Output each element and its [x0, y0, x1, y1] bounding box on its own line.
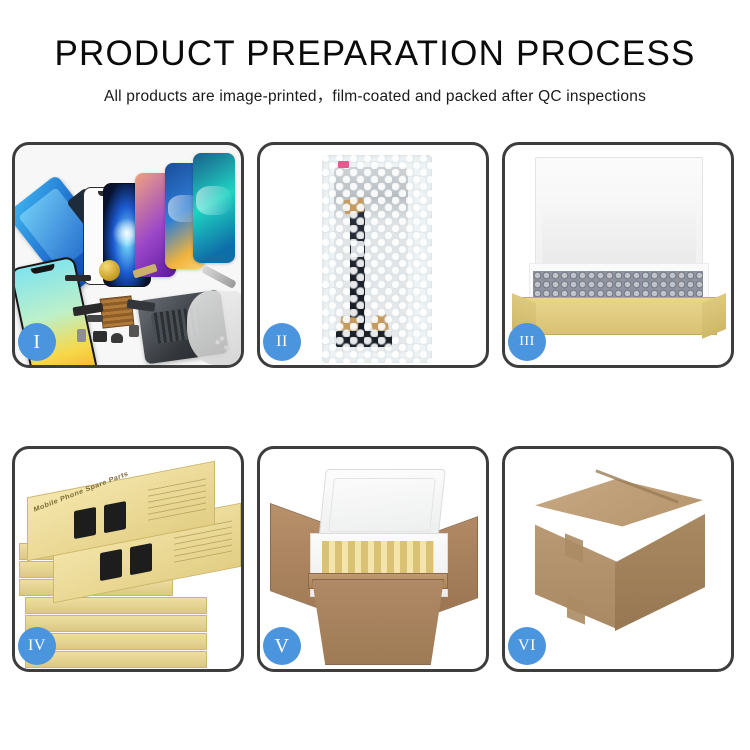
step-badge-2: II — [263, 323, 301, 361]
tweezers-icon — [201, 265, 237, 289]
connector-strip — [336, 331, 392, 347]
header: PRODUCT PREPARATION PROCESS All products… — [0, 0, 750, 106]
pink-sticker-icon — [338, 161, 349, 168]
process-steps-grid: I II — [12, 142, 738, 672]
connector-icon — [343, 198, 365, 215]
product-preparation-page: PRODUCT PREPARATION PROCESS All products… — [0, 0, 750, 750]
small-part-icon — [111, 333, 123, 343]
bubble-wrap-bag — [322, 155, 432, 363]
screen-print-icon — [74, 507, 96, 539]
small-part-icon — [129, 325, 139, 337]
connector-icon — [370, 314, 389, 336]
screen-print-icon — [100, 549, 122, 581]
lcd-panel — [334, 167, 408, 353]
process-step-panel-3: III — [502, 142, 734, 368]
step-badge-1: I — [18, 323, 56, 361]
box-layer — [25, 615, 207, 632]
step-badge-4: IV — [18, 627, 56, 665]
process-step-panel-6: VI — [502, 446, 734, 672]
lcd-flex-cable — [350, 207, 365, 337]
process-step-panel-2: II — [257, 142, 489, 368]
process-step-panel-4: Mobile Phone Spare Parts Mobile Phone Sp… — [12, 446, 244, 672]
step-badge-3: III — [508, 323, 546, 361]
lcd-driver-ic — [351, 241, 364, 257]
box-lid — [535, 157, 703, 277]
speaker-coil-icon — [99, 260, 120, 281]
teal-phone-icon — [193, 153, 235, 263]
process-step-panel-1: I — [12, 142, 244, 368]
step-badge-6: VI — [508, 627, 546, 665]
screen-print-icon — [130, 543, 152, 575]
small-part-icon — [77, 329, 86, 342]
page-title: PRODUCT PREPARATION PROCESS — [0, 36, 750, 73]
process-step-panel-5: V — [257, 446, 489, 672]
page-subtitle: All products are image-printed，film-coat… — [0, 84, 750, 106]
styrofoam-lid — [318, 469, 446, 541]
carton-right-face — [615, 509, 705, 631]
carton-body — [312, 579, 444, 665]
small-part-icon — [93, 331, 107, 342]
screen-print-icon — [104, 501, 126, 533]
small-part-icon — [87, 315, 103, 322]
kraft-box-base — [521, 297, 717, 335]
hand-icon — [187, 291, 241, 365]
spec-lines — [148, 473, 206, 520]
step-badge-5: V — [263, 627, 301, 665]
connector-icon — [339, 316, 359, 340]
box-stack: Mobile Phone Spare Parts Mobile Phone Sp… — [19, 467, 241, 663]
battery-connector-icon — [65, 275, 91, 281]
